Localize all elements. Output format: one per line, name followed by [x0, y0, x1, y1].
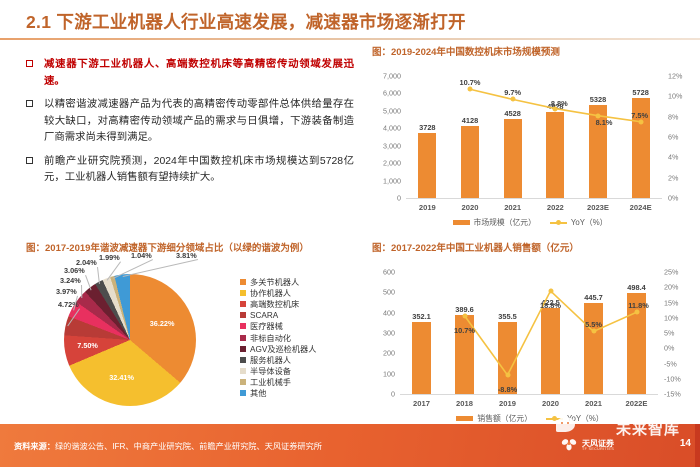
line-marker: [591, 329, 596, 334]
bar: [504, 119, 522, 198]
yoy-value-label: -8.8%: [498, 385, 517, 394]
bullet-item: 减速器下游工业机器人、高端数控机床等高精密传动领域发展迅速。: [24, 57, 354, 90]
bar-value-label: 352.1: [412, 312, 431, 321]
pie-slice-label: 3.97%: [56, 287, 77, 296]
x-axis-tick-label: 2018: [456, 399, 473, 408]
legend-line-swatch: [550, 220, 567, 225]
bar-value-label: 3728: [419, 123, 435, 132]
legend-color-swatch: [240, 312, 246, 318]
x-axis-tick-label: 2021: [504, 203, 521, 212]
figure-cnc-market: 图：2019-2024年中国数控机床市场规模预测 01,0002,0003,00…: [372, 44, 688, 226]
x-axis-tick-label: 2020: [542, 399, 559, 408]
legend-item[interactable]: 非标自动化: [240, 332, 316, 343]
chart-plot-area: 01,0002,0003,0004,0005,0006,0007,0000%2%…: [372, 62, 688, 228]
line-marker: [505, 373, 510, 378]
legend-item[interactable]: 多关节机器人: [240, 276, 316, 287]
x-axis-tick-label: 2021: [585, 399, 602, 408]
bar: [541, 308, 559, 394]
y-axis-tick-label: 5,000: [372, 106, 401, 115]
bullet-item: 前瞻产业研究院预测，2024年中国数控机床市场规模达到5728亿元，工业机器人销…: [24, 154, 354, 187]
y-axis-tick-label: 600: [372, 268, 395, 277]
legend-label: SCARA: [250, 311, 278, 320]
legend-color-swatch: [240, 379, 246, 385]
y-axis-tick-label: 500: [372, 288, 395, 297]
wechat-bubble-icon: [556, 417, 575, 432]
secondary-y-axis-tick-label: 6%: [668, 133, 678, 142]
secondary-y-axis-tick-label: 10%: [664, 313, 678, 322]
legend-item[interactable]: 其他: [240, 388, 316, 399]
figure-harmonic-share: 图：2017-2019年谐波减速器下游细分领域占比（以绿的谐波为例） 36.22…: [26, 240, 356, 420]
secondary-y-axis-tick-label: -5%: [664, 359, 677, 368]
x-axis-tick-label: 2020: [462, 203, 479, 212]
bullet-square-icon: [26, 157, 33, 164]
page-accent-bar: [695, 424, 700, 467]
yoy-value-label: 8.1%: [596, 118, 613, 127]
source-label: 资料来源：: [14, 442, 55, 451]
y-axis-tick-label: 4,000: [372, 124, 401, 133]
slide-header: 2.1 下游工业机器人行业高速发展，减速器市场逐渐打开: [0, 0, 700, 40]
secondary-y-axis-tick-label: 0%: [664, 344, 674, 353]
x-axis-line: [406, 198, 662, 199]
secondary-y-axis-tick-label: 5%: [664, 329, 674, 338]
legend-item[interactable]: 协作机器人: [240, 287, 316, 298]
yoy-value-label: 10.7%: [460, 78, 481, 87]
bullet-square-icon: [26, 60, 33, 67]
legend-item[interactable]: 半导体设备: [240, 366, 316, 377]
slide-page: 2.1 下游工业机器人行业高速发展，减速器市场逐渐打开 减速器下游工业机器人、高…: [0, 0, 700, 467]
yoy-value-label: 11.8%: [628, 301, 649, 310]
legend-label: 工业机械手: [250, 376, 291, 388]
legend-bar-swatch: [453, 220, 470, 225]
bullet-text: 前瞻产业研究院预测，2024年中国数控机床市场规模达到5728亿元，工业机器人销…: [44, 154, 354, 187]
secondary-y-axis-tick-label: 25%: [664, 268, 678, 277]
secondary-y-axis-tick-label: -10%: [664, 374, 681, 383]
line-marker: [548, 288, 553, 293]
secondary-y-axis-tick-label: 12%: [668, 72, 682, 81]
figure-title: 图：2017-2022年中国工业机器人销售额（亿元）: [372, 240, 688, 254]
secondary-y-axis-tick-label: 4%: [668, 153, 678, 162]
legend-color-swatch: [240, 290, 246, 296]
pie-slice-label: 1.04%: [131, 251, 152, 260]
legend-label: 半导体设备: [250, 365, 291, 377]
x-axis-tick-label: 2017: [413, 399, 430, 408]
pie-legend: 多关节机器人协作机器人高端数控机床SCARA医疗器械非标自动化AGV及巡检机器人…: [240, 276, 316, 399]
y-axis-tick-label: 400: [372, 308, 395, 317]
y-axis-tick-label: 0: [372, 390, 395, 399]
yoy-value-label: 7.5%: [631, 111, 648, 120]
line-marker: [510, 97, 515, 102]
y-axis-tick-label: 200: [372, 349, 395, 358]
bar: [584, 303, 602, 394]
pie-slice-label: 7.50%: [77, 341, 98, 350]
bullet-item: 以精密谐波减速器产品为代表的高精密传动零部件总体供给量存在较大缺口，对高精密传动…: [24, 97, 354, 147]
legend-label: 医疗器械: [250, 320, 283, 332]
pie-slice-label: 32.41%: [109, 373, 134, 382]
x-axis-tick-label: 2022: [547, 203, 564, 212]
secondary-y-axis-tick-label: 15%: [664, 298, 678, 307]
bar-value-label: 355.5: [498, 312, 517, 321]
line-marker: [462, 313, 467, 318]
legend-label: 非标自动化: [250, 332, 291, 344]
y-axis-tick-label: 3,000: [372, 141, 401, 150]
bullet-text: 以精密谐波减速器产品为代表的高精密传动零部件总体供给量存在较大缺口，对高精密传动…: [44, 97, 354, 147]
legend-color-swatch: [240, 390, 246, 396]
figure-robot-sales: 图：2017-2022年中国工业机器人销售额（亿元） 0100200300400…: [372, 240, 688, 422]
bullet-text: 减速器下游工业机器人、高端数控机床等高精密传动领域发展迅速。: [44, 57, 354, 90]
figure-title: 图：2019-2024年中国数控机床市场规模预测: [372, 44, 688, 58]
yoy-value-label: 18.8%: [540, 301, 561, 310]
bullet-list: 减速器下游工业机器人、高端数控机床等高精密传动领域发展迅速。以精密谐波减速器产品…: [24, 57, 354, 194]
x-axis-tick-label: 2019: [499, 399, 516, 408]
pie-label-leader-line: [81, 285, 82, 298]
x-axis-tick-label: 2019: [419, 203, 436, 212]
pie-slice-label: 3.06%: [64, 266, 85, 275]
bullet-square-icon: [26, 100, 33, 107]
header-divider: [0, 38, 700, 40]
legend-color-swatch: [240, 301, 246, 307]
y-axis-tick-label: 2,000: [372, 159, 401, 168]
legend-item[interactable]: YoY（%）: [550, 217, 608, 228]
legend-label: 市场规模（亿元）: [474, 217, 536, 228]
legend-label: 高端数控机床: [250, 298, 299, 310]
secondary-y-axis-tick-label: 20%: [664, 283, 678, 292]
chart-plot-area: 0100200300400500600-15%-10%-5%0%5%10%15%…: [372, 258, 688, 424]
legend-label: 其他: [250, 387, 266, 399]
secondary-y-axis-tick-label: 2%: [668, 173, 678, 182]
x-axis-tick-label: 2022E: [626, 399, 648, 408]
legend-item[interactable]: 高端数控机床: [240, 298, 316, 309]
source-text: 绿的谐波公告、IFR、中商产业研究院、前瞻产业研究院、天风证券研究所: [55, 442, 322, 451]
bar-value-label: 4128: [462, 116, 478, 125]
y-axis-tick-label: 0: [372, 194, 401, 203]
yoy-value-label: 10.7%: [454, 326, 475, 335]
secondary-y-axis-tick-label: 10%: [668, 92, 682, 101]
legend-color-swatch: [240, 368, 246, 374]
secondary-y-axis-tick-label: 0%: [668, 194, 678, 203]
legend-color-swatch: [240, 346, 246, 352]
bar-value-label: 498.4: [627, 283, 646, 292]
bar-value-label: 445.7: [584, 293, 603, 302]
bar-value-label: 5728: [632, 88, 648, 97]
legend-label: 销售额（亿元）: [477, 413, 532, 424]
y-axis-tick-label: 6,000: [372, 89, 401, 98]
secondary-y-axis-tick-label: -15%: [664, 390, 681, 399]
y-axis-tick-label: 7,000: [372, 72, 401, 81]
bar-value-label: 4528: [504, 109, 520, 118]
x-axis-tick-label: 2024E: [630, 203, 652, 212]
legend-label: 协作机器人: [250, 287, 291, 299]
y-axis-tick-label: 100: [372, 369, 395, 378]
legend-label: 服务机器人: [250, 354, 291, 366]
bar: [546, 112, 564, 198]
pie-slice-label: 3.81%: [176, 251, 197, 260]
legend-color-swatch: [240, 335, 246, 341]
bar: [461, 126, 479, 198]
legend-label: AGV及巡检机器人: [250, 343, 316, 355]
bar-value-label: 5328: [590, 95, 606, 104]
pie-slice-label: 1.99%: [99, 253, 120, 262]
legend-item[interactable]: 工业机械手: [240, 377, 316, 388]
legend-item[interactable]: 市场规模（亿元）: [453, 217, 536, 228]
x-axis-line: [400, 394, 658, 395]
brand-sub: TF SECURITIES: [582, 447, 614, 451]
yoy-value-label: 8.8%: [551, 99, 568, 108]
y-axis-tick-label: 1,000: [372, 176, 401, 185]
y-axis-tick-label: 300: [372, 329, 395, 338]
legend-item[interactable]: 医疗器械: [240, 321, 316, 332]
legend-label: 多关节机器人: [250, 276, 299, 288]
line-marker: [638, 119, 643, 124]
chart-legend: 市场规模（亿元）YoY（%）: [372, 217, 688, 228]
bar: [412, 322, 430, 394]
legend-color-swatch: [240, 323, 246, 329]
bar: [418, 133, 436, 198]
watermark-text: 未来智库: [616, 418, 680, 439]
source-note: 资料来源：绿的谐波公告、IFR、中商产业研究院、前瞻产业研究院、天风证券研究所: [14, 440, 322, 452]
legend-item[interactable]: 销售额（亿元）: [456, 413, 532, 424]
legend-bar-swatch: [456, 416, 473, 421]
legend-item[interactable]: SCARA: [240, 310, 316, 321]
page-title: 2.1 下游工业机器人行业高速发展，减速器市场逐渐打开: [26, 9, 466, 34]
yoy-value-label: 5.5%: [585, 320, 602, 329]
chart-plot-area: 36.22%32.41%7.50%4.72%3.97%3.24%3.06%2.0…: [26, 258, 356, 422]
yoy-value-label: 9.7%: [504, 88, 521, 97]
pie-chart: [64, 274, 196, 406]
legend-item[interactable]: 服务机器人: [240, 354, 316, 365]
pie-slice-label: 36.22%: [150, 319, 175, 328]
line-marker: [468, 87, 473, 92]
pie-slice-label: 2.04%: [76, 258, 97, 267]
legend-label: YoY（%）: [571, 217, 608, 228]
secondary-y-axis-tick-label: 8%: [668, 112, 678, 121]
bar: [498, 322, 516, 394]
legend-color-swatch: [240, 357, 246, 363]
brand-flower-icon: [560, 437, 578, 453]
legend-color-swatch: [240, 279, 246, 285]
legend-item[interactable]: AGV及巡检机器人: [240, 343, 316, 354]
pie-slice-label: 3.24%: [60, 276, 81, 285]
watermark: 未来智库 天风证券 TF SECURITIES: [552, 414, 682, 464]
x-axis-tick-label: 2023E: [587, 203, 609, 212]
line-marker: [634, 310, 639, 315]
